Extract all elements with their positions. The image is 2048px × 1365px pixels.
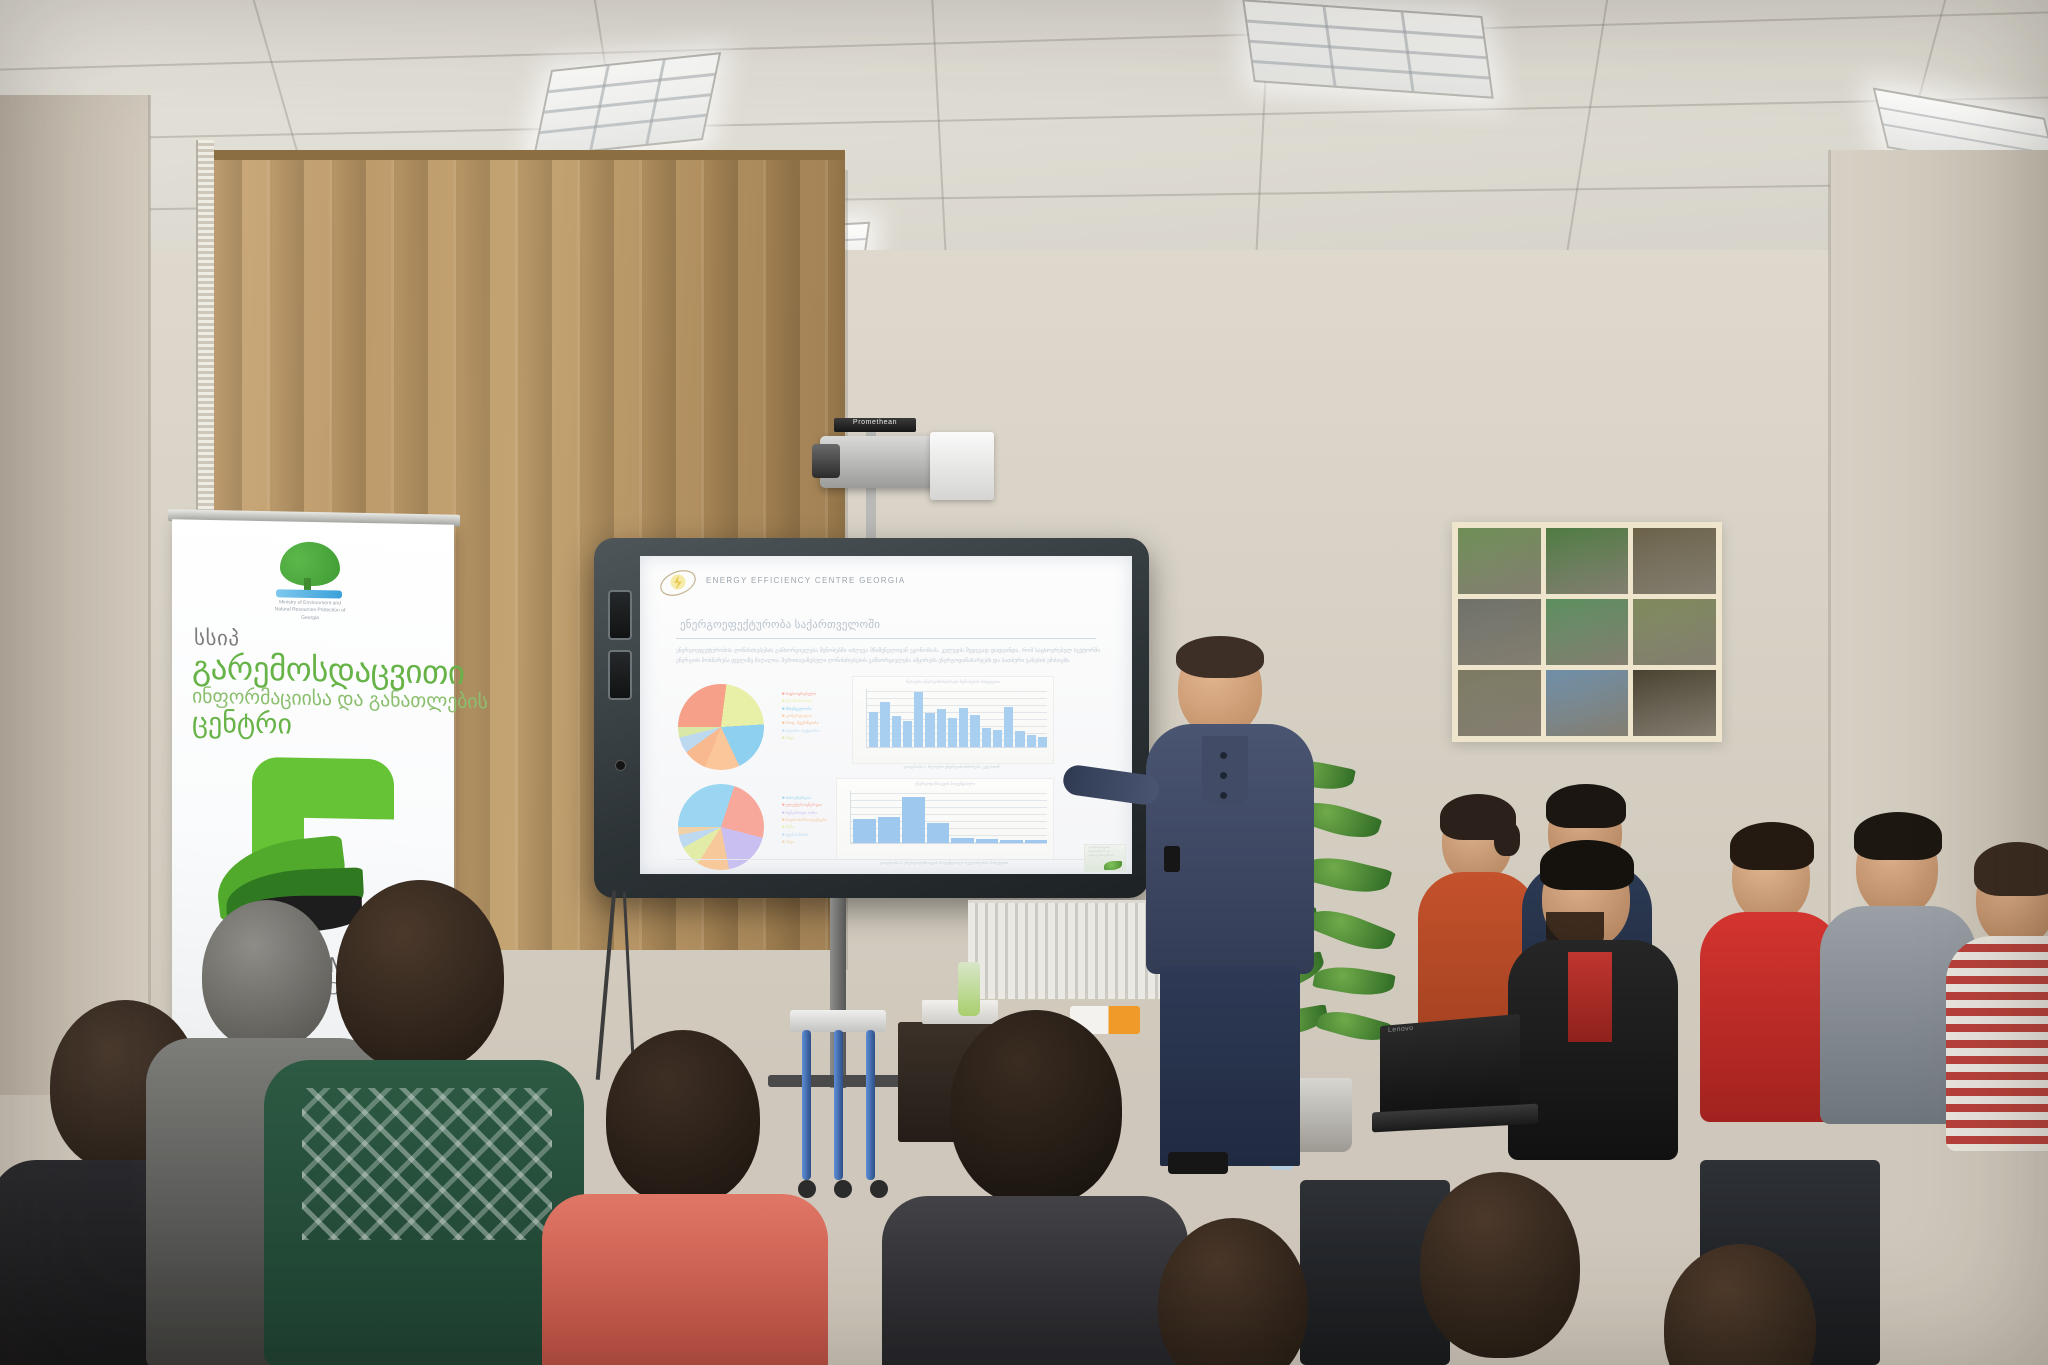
bar-chart-savings-potential: ენერგოდაზოგვის პოტენციალი [836, 778, 1054, 860]
legend-item: ■ თბოენერგია [782, 794, 827, 801]
legend-item: ■ ქვანახშირი [782, 831, 827, 838]
bar-chart-2-caption: დიაგრამა 2. ენერგოდაზოგვის პოტენციალი სე… [836, 860, 1052, 865]
slide-title-rule [676, 638, 1096, 639]
collage-photo [1458, 670, 1541, 736]
legend-item: ■ შეშა [782, 823, 827, 830]
bar [1038, 737, 1047, 747]
slide-footer-rule [676, 859, 1096, 860]
legend-item: ■ მრეწველობა [782, 705, 820, 712]
bar-chart-1-bars [869, 691, 1047, 747]
bar [1025, 840, 1048, 843]
legend-item: ■ ტრანსპორტი [782, 697, 820, 704]
collage-photo [1458, 528, 1541, 594]
wall-radiator [968, 900, 1168, 999]
bar [914, 692, 923, 747]
collage-photo [1546, 528, 1629, 594]
bar [853, 819, 876, 843]
bar [878, 817, 901, 843]
water-icon [276, 589, 342, 598]
bar [993, 730, 1002, 747]
collage-photo [1633, 599, 1716, 665]
slide-thumbnail-caption: გარემოსდაცვითი ინფორმაციისა და განათლები… [1088, 846, 1124, 858]
projector-side-panel [930, 432, 994, 500]
legend-item: ■ სხვა [782, 838, 827, 845]
audience-member [1626, 1244, 1856, 1365]
audience-member [1376, 1172, 1626, 1365]
bar [959, 708, 968, 747]
legend-item: ■ ბუნებრივი აირი [782, 809, 827, 816]
pie-chart-1-legend: ■ საცხოვრებელი■ ტრანსპორტი■ მრეწველობა■ … [782, 690, 820, 741]
bar [948, 718, 957, 747]
bar [869, 712, 878, 747]
eec-logo-icon [658, 566, 698, 600]
bar [976, 839, 999, 843]
pie-chart-energy-consumption [678, 684, 764, 770]
collage-photo [1633, 528, 1716, 594]
collage-photo [1546, 670, 1629, 736]
slide-title: ენერგოეფექტურობა საქართველოში [680, 618, 880, 631]
bar [903, 721, 912, 747]
whiteboard-side-buttons[interactable] [608, 590, 630, 720]
projector-brand-label: Promethean [838, 419, 912, 426]
wood-partition-top-rail [205, 150, 845, 160]
projector-lens [812, 444, 840, 478]
legend-item: ■ ნავთობპროდუქტები [782, 816, 827, 823]
slide-body-text: ენერგოეფექტურობის ღონისძიებების განხორცი… [676, 646, 1100, 666]
audience-member [1118, 1218, 1348, 1365]
bar [925, 713, 934, 747]
nature-photo-collage [1452, 522, 1722, 742]
bar [1004, 707, 1013, 747]
bar-chart-1-caption: დიაგრამა 1. წლიური ენერგომოხმარება, კვტ.… [852, 764, 1052, 769]
audience-member [280, 880, 560, 1365]
bar [1000, 840, 1023, 844]
remote-clicker[interactable] [1164, 846, 1180, 872]
projected-slide: ENERGY EFFICIENCY CENTRE GEORGIA ენერგოე… [640, 556, 1132, 874]
bar [880, 702, 889, 747]
legend-item: ■ საჯარო სექტორი [782, 727, 820, 734]
audience-member [1706, 830, 1836, 1120]
room-scene: Ministry of Environment and Natural Reso… [0, 0, 2048, 1365]
bar-chart-1-title: წლიური ენერგომოხმარება შენობების მიხედვი… [853, 679, 1053, 684]
bar [982, 728, 991, 747]
bar [1027, 735, 1036, 747]
pie-chart-emissions [678, 784, 764, 870]
pie-chart-2-legend: ■ თბოენერგია■ ელექტროენერგია■ ბუნებრივი … [782, 794, 827, 845]
collage-photo [1458, 599, 1541, 665]
bar-chart-annual-energy-use: წლიური ენერგომოხმარება შენობების მიხედვი… [852, 676, 1054, 764]
bar-chart-2-bars [853, 793, 1047, 843]
legend-item: ■ საცხოვრებელი [782, 690, 820, 697]
bar-chart-2-title: ენერგოდაზოგვის პოტენციალი [837, 781, 1053, 786]
legend-item: ■ სოფ. მეურნეობა [782, 719, 820, 726]
legend-item: ■ ელექტროენერგია [782, 801, 827, 808]
audience-member [560, 1030, 810, 1365]
ministry-logo: Ministry of Environment and Natural Reso… [274, 539, 346, 614]
collage-photo [1546, 599, 1629, 665]
bar [951, 838, 974, 843]
slide-brand-text: ENERGY EFFICIENCY CENTRE GEORGIA [706, 576, 906, 585]
bar [892, 716, 901, 747]
whiteboard-power-indicator [615, 760, 626, 771]
bar [902, 797, 925, 843]
legend-item: ■ სხვა [782, 734, 820, 741]
bar [970, 715, 979, 747]
audience-member [1956, 852, 2048, 1142]
bar [927, 823, 950, 843]
bar [1015, 731, 1024, 747]
left-wall [0, 95, 150, 1095]
ministry-caption: Ministry of Environment and Natural Reso… [274, 599, 346, 622]
water-bottle [958, 962, 980, 1016]
collage-grid [1458, 528, 1716, 736]
bar [937, 709, 946, 747]
legend-item: ■ კომერციული [782, 712, 820, 719]
collage-photo [1633, 670, 1716, 736]
banner-line3: ცენტრი [192, 706, 292, 741]
